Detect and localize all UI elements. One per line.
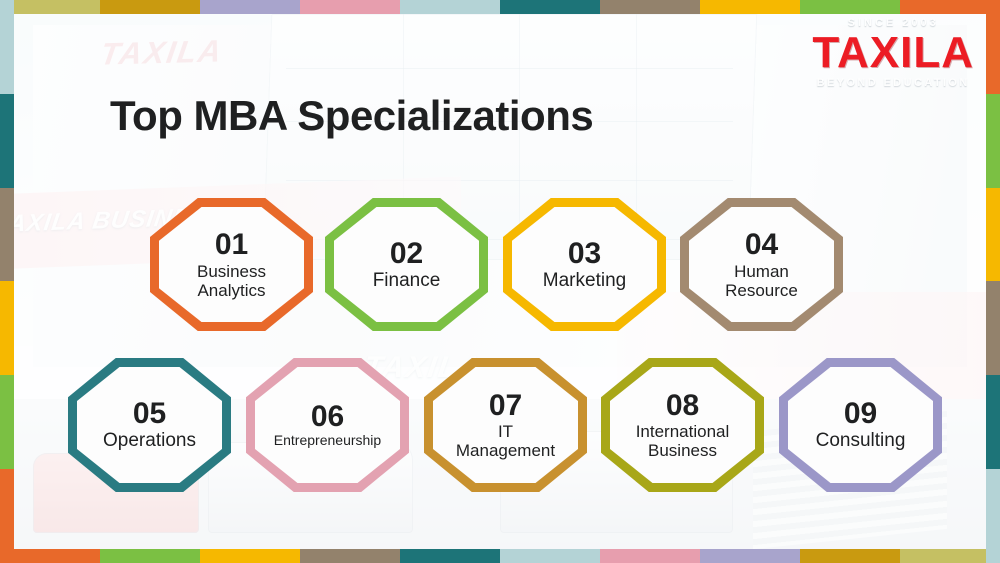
card-number-07: 07 xyxy=(489,390,522,421)
infographic-poster: TAXILA TAXILA BUSINESS TAXILA SINCE 2003… xyxy=(0,0,1000,563)
card-inner-02: 02Finance xyxy=(334,207,479,322)
card-label-03: Marketing xyxy=(543,270,626,291)
card-inner-05: 05Operations xyxy=(77,367,222,483)
specialization-card-09[interactable]: 09Consulting xyxy=(779,358,942,492)
card-inner-06: 06Entrepreneurship xyxy=(255,367,400,483)
card-inner-01: 01BusinessAnalytics xyxy=(159,207,304,322)
specialization-card-08[interactable]: 08InternationalBusiness xyxy=(601,358,764,492)
card-label-08: InternationalBusiness xyxy=(636,422,730,460)
card-label-07: ITManagement xyxy=(456,422,555,460)
card-number-02: 02 xyxy=(390,238,423,269)
card-label-01: BusinessAnalytics xyxy=(197,262,266,300)
card-inner-03: 03Marketing xyxy=(512,207,657,322)
specialization-card-05[interactable]: 05Operations xyxy=(68,358,231,492)
specialization-card-03[interactable]: 03Marketing xyxy=(503,198,666,331)
card-label-04: HumanResource xyxy=(725,262,798,300)
card-inner-09: 09Consulting xyxy=(788,367,933,483)
card-number-08: 08 xyxy=(666,390,699,421)
specialization-card-02[interactable]: 02Finance xyxy=(325,198,488,331)
specialization-grid: 01BusinessAnalytics02Finance03Marketing0… xyxy=(0,0,1000,563)
card-inner-07: 07ITManagement xyxy=(433,367,578,483)
card-number-03: 03 xyxy=(568,238,601,269)
card-number-04: 04 xyxy=(745,229,778,260)
card-label-06: Entrepreneurship xyxy=(274,433,381,449)
card-label-05: Operations xyxy=(103,430,196,451)
card-inner-08: 08InternationalBusiness xyxy=(610,367,755,483)
specialization-card-07[interactable]: 07ITManagement xyxy=(424,358,587,492)
specialization-card-04[interactable]: 04HumanResource xyxy=(680,198,843,331)
card-number-01: 01 xyxy=(215,229,248,260)
card-number-06: 06 xyxy=(311,401,344,432)
card-number-09: 09 xyxy=(844,398,877,429)
card-number-05: 05 xyxy=(133,398,166,429)
specialization-card-06[interactable]: 06Entrepreneurship xyxy=(246,358,409,492)
card-label-09: Consulting xyxy=(816,430,906,451)
specialization-card-01[interactable]: 01BusinessAnalytics xyxy=(150,198,313,331)
card-label-02: Finance xyxy=(373,270,441,291)
card-inner-04: 04HumanResource xyxy=(689,207,834,322)
